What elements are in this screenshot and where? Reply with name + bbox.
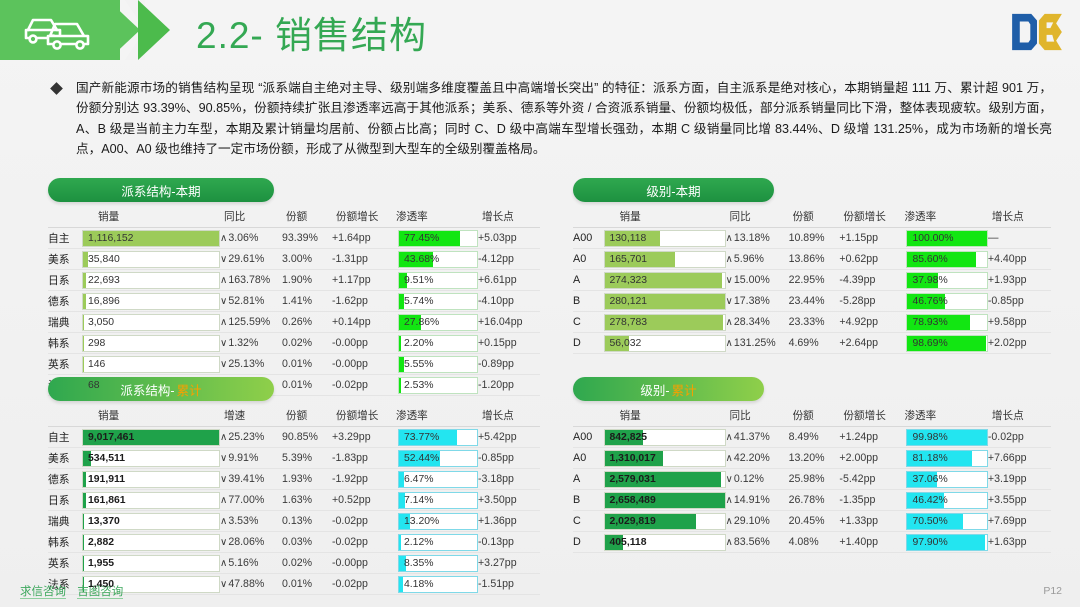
share-growth-cell: -0.02pp <box>332 511 392 532</box>
penetration-cell: 70.50% <box>900 511 987 532</box>
share-growth-cell: -5.42pp <box>839 469 900 490</box>
sales-value: 191,911 <box>83 474 125 485</box>
penetration-value: 97.90% <box>907 537 947 548</box>
sales-value: 130,118 <box>605 233 647 244</box>
table-row: A274,32315.00%22.95%-4.39pp37.98%+1.93pp <box>573 270 1051 291</box>
row-label: A00 <box>573 228 604 249</box>
column-header: 同比 <box>726 406 789 427</box>
share-growth-cell: +1.40pp <box>839 532 900 553</box>
panel-title-main: 级别- <box>640 380 669 399</box>
sales-bar: 130,118 <box>604 230 726 247</box>
yoy-cell: 39.41% <box>220 469 282 490</box>
column-header: 同比 <box>220 207 282 228</box>
sales-cell: 2,658,489 <box>604 490 726 511</box>
share-value: 20.45% <box>789 515 825 527</box>
sales-value: 1,310,017 <box>605 453 656 464</box>
row-label: 瑞典 <box>48 312 82 333</box>
growth-point-value: +7.66pp <box>988 452 1027 464</box>
yoy-value: 1.32% <box>220 337 258 349</box>
share-value: 13.20% <box>789 452 825 464</box>
growth-point-cell: +5.03pp <box>478 228 540 249</box>
penetration-value: 5.55% <box>399 359 433 370</box>
sales-cell: 405,118 <box>604 532 726 553</box>
share-value: 26.78% <box>789 494 825 506</box>
share-value: 1.93% <box>282 473 312 485</box>
penetration-value: 78.93% <box>907 317 947 328</box>
growth-point-value: +3.27pp <box>478 557 517 569</box>
yoy-value: 17.38% <box>726 295 770 307</box>
row-label: 韩系 <box>48 333 82 354</box>
column-header: 份额 <box>282 207 332 228</box>
sales-bar: 1,955 <box>82 555 220 572</box>
penetration-bar: 37.98% <box>906 272 987 289</box>
growth-point-value: +3.50pp <box>478 494 517 506</box>
panel-title-main: 派系结构- <box>120 380 174 399</box>
yoy-cell: 5.96% <box>726 249 789 270</box>
share-value: 93.39% <box>282 232 318 244</box>
yoy-cell: 0.12% <box>726 469 789 490</box>
yoy-value: 5.96% <box>726 253 764 265</box>
row-label: 英系 <box>48 553 82 574</box>
share-value: 0.02% <box>282 557 312 569</box>
column-header: 渗透率 <box>900 207 987 228</box>
yoy-value: 13.18% <box>726 232 770 244</box>
sales-cell: 13,370 <box>82 511 220 532</box>
sales-cell: 1,116,152 <box>82 228 220 249</box>
table-row: 瑞典13,3703.53%0.13%-0.02pp13.20%+1.36pp <box>48 511 540 532</box>
sales-cell: 130,118 <box>604 228 726 249</box>
share-value: 4.08% <box>789 536 819 548</box>
growth-point-value: +2.02pp <box>988 337 1027 349</box>
column-header: 同比 <box>726 207 789 228</box>
penetration-cell: 46.42% <box>900 490 987 511</box>
diamond-bullet-icon <box>50 82 63 95</box>
penetration-value: 7.14% <box>399 495 433 506</box>
sales-value: 16,896 <box>83 296 120 307</box>
data-table: 销量同比份额份额增长渗透率增长点自主1,116,1523.06%93.39%+1… <box>48 207 540 396</box>
penetration-cell: 4.18% <box>392 574 478 595</box>
summary-paragraph-block: 国产新能源市场的销售结构呈现 “派系端自主绝对主导、级别端多维度覆盖且中高端增长… <box>52 78 1052 160</box>
penetration-cell: 37.98% <box>900 270 987 291</box>
share-growth-cell: +2.00pp <box>839 448 900 469</box>
column-header: 销量 <box>604 207 726 228</box>
row-label: C <box>573 312 604 333</box>
sales-bar: 298 <box>82 335 220 352</box>
panel-title-pill: 派系结构-本期 <box>48 178 274 202</box>
share-cell: 5.39% <box>282 448 332 469</box>
share-growth-cell: +0.62pp <box>839 249 900 270</box>
sales-cell: 146 <box>82 354 220 375</box>
share-growth-cell: -0.00pp <box>332 333 392 354</box>
sales-value: 22,693 <box>83 275 120 286</box>
sales-value: 56,032 <box>605 338 642 349</box>
sales-cell: 22,693 <box>82 270 220 291</box>
column-header: 增速 <box>220 406 282 427</box>
share-cell: 10.89% <box>789 228 840 249</box>
penetration-cell: 43.68% <box>392 249 478 270</box>
yoy-value: 47.88% <box>220 578 264 590</box>
column-header: 销量 <box>82 406 220 427</box>
share-value: 23.44% <box>789 295 825 307</box>
sales-cell: 35,840 <box>82 249 220 270</box>
growth-point-value: +9.58pp <box>988 316 1027 328</box>
column-header-spacer <box>573 207 604 228</box>
penetration-bar: 8.35% <box>398 555 478 572</box>
penetration-bar: 13.20% <box>398 513 478 530</box>
penetration-bar: 85.60% <box>906 251 987 268</box>
sales-cell: 161,861 <box>82 490 220 511</box>
sales-value: 2,658,489 <box>605 495 656 506</box>
footer-links: 求信咨询 吉图咨询 <box>20 583 131 599</box>
sales-value: 13,370 <box>83 516 120 527</box>
penetration-cell: 52.44% <box>392 448 478 469</box>
share-growth-value: -0.02pp <box>332 515 368 527</box>
yoy-value: 83.56% <box>726 536 770 548</box>
growth-point-cell: -0.13pp <box>478 532 540 553</box>
penetration-bar: 43.68% <box>398 251 478 268</box>
share-cell: 23.44% <box>789 291 840 312</box>
share-cell: 0.03% <box>282 532 332 553</box>
growth-point-cell: -0.02pp <box>988 427 1051 448</box>
share-cell: 0.26% <box>282 312 332 333</box>
sales-value: 280,121 <box>605 296 648 307</box>
share-cell: 8.49% <box>789 427 840 448</box>
penetration-cell: 8.35% <box>392 553 478 574</box>
share-growth-value: +3.29pp <box>332 431 371 443</box>
penetration-bar: 5.74% <box>398 293 478 310</box>
growth-point-value: +5.03pp <box>478 232 517 244</box>
page-number: P12 <box>1043 585 1062 597</box>
yoy-value: 3.06% <box>220 232 258 244</box>
penetration-bar: 46.76% <box>906 293 987 310</box>
sales-bar: 9,017,461 <box>82 429 220 446</box>
growth-point-cell: -4.12pp <box>478 249 540 270</box>
penetration-value: 46.76% <box>907 296 947 307</box>
row-label: D <box>573 333 604 354</box>
share-growth-value: +1.17pp <box>332 274 371 286</box>
growth-point-value: -0.85pp <box>478 452 514 464</box>
share-growth-cell: +1.15pp <box>839 228 900 249</box>
sales-cell: 191,911 <box>82 469 220 490</box>
penetration-cell: 81.18% <box>900 448 987 469</box>
growth-point-cell: +9.58pp <box>988 312 1051 333</box>
sales-value: 161,861 <box>83 495 126 506</box>
table-row: 日系22,693163.78%1.90%+1.17pp9.51%+6.61pp <box>48 270 540 291</box>
row-label: 日系 <box>48 270 82 291</box>
yoy-cell: 9.91% <box>220 448 282 469</box>
share-value: 0.01% <box>282 578 312 590</box>
share-value: 1.41% <box>282 295 312 307</box>
column-header: 增长点 <box>988 406 1051 427</box>
penetration-bar: 27.86% <box>398 314 478 331</box>
penetration-value: 6.47% <box>399 474 433 485</box>
yoy-value: 77.00% <box>220 494 264 506</box>
penetration-value: 98.69% <box>907 338 947 349</box>
slide-root: 2.2- 销售结构 国产新能源市场的销售结构呈现 “派系端自主绝对主导、级别端多… <box>0 0 1080 607</box>
growth-point-cell: +3.55pp <box>988 490 1051 511</box>
sales-bar: 56,032 <box>604 335 726 352</box>
growth-point-value: +16.04pp <box>478 316 522 328</box>
growth-point-value: -0.85pp <box>988 295 1024 307</box>
sales-cell: 278,783 <box>604 312 726 333</box>
yoy-cell: 15.00% <box>726 270 789 291</box>
sales-bar: 13,370 <box>82 513 220 530</box>
penetration-bar: 6.47% <box>398 471 478 488</box>
share-growth-value: +1.24pp <box>839 431 878 443</box>
penetration-cell: 9.51% <box>392 270 478 291</box>
sales-bar: 2,658,489 <box>604 492 726 509</box>
yoy-value: 41.37% <box>726 431 770 443</box>
sales-cell: 298 <box>82 333 220 354</box>
penetration-value: 37.98% <box>907 275 947 286</box>
penetration-value: 70.50% <box>907 516 947 527</box>
penetration-cell: 5.55% <box>392 354 478 375</box>
share-growth-cell: +1.64pp <box>332 228 392 249</box>
growth-point-value: +1.36pp <box>478 515 517 527</box>
share-value: 5.39% <box>282 452 312 464</box>
sales-bar: 534,511 <box>82 450 220 467</box>
share-value: 10.89% <box>789 232 825 244</box>
column-header: 份额增长 <box>839 406 900 427</box>
data-table: 销量同比份额份额增长渗透率增长点A00842,82541.37%8.49%+1.… <box>573 406 1051 553</box>
share-cell: 0.01% <box>282 574 332 595</box>
row-label: 韩系 <box>48 532 82 553</box>
yoy-cell: 25.23% <box>220 427 282 448</box>
growth-point-cell: — <box>988 228 1051 249</box>
yoy-cell: 5.16% <box>220 553 282 574</box>
row-label: B <box>573 490 604 511</box>
row-label: A00 <box>573 427 604 448</box>
yoy-value: 125.59% <box>220 316 270 328</box>
share-growth-value: -1.62pp <box>332 295 368 307</box>
share-value: 0.02% <box>282 337 312 349</box>
share-cell: 13.20% <box>789 448 840 469</box>
share-growth-value: +0.62pp <box>839 253 878 265</box>
share-value: 1.63% <box>282 494 312 506</box>
yoy-value: 25.13% <box>220 358 264 370</box>
growth-point-cell: +2.02pp <box>988 333 1051 354</box>
table-row: 美系534,5119.91%5.39%-1.83pp52.44%-0.85pp <box>48 448 540 469</box>
sales-cell: 56,032 <box>604 333 726 354</box>
table-row: A0165,7015.96%13.86%+0.62pp85.60%+4.40pp <box>573 249 1051 270</box>
penetration-cell: 13.20% <box>392 511 478 532</box>
penetration-cell: 27.86% <box>392 312 478 333</box>
share-growth-value: -1.35pp <box>839 494 875 506</box>
penetration-bar: 99.98% <box>906 429 987 446</box>
sales-cell: 2,029,819 <box>604 511 726 532</box>
share-growth-value: +0.14pp <box>332 316 371 328</box>
growth-point-cell: +1.93pp <box>988 270 1051 291</box>
share-growth-value: -1.83pp <box>332 452 368 464</box>
sales-bar: 161,861 <box>82 492 220 509</box>
share-growth-cell: +2.64pp <box>839 333 900 354</box>
yoy-cell: 28.06% <box>220 532 282 553</box>
penetration-bar: 81.18% <box>906 450 987 467</box>
row-label: 德系 <box>48 469 82 490</box>
sales-cell: 842,825 <box>604 427 726 448</box>
share-growth-cell: -1.83pp <box>332 448 392 469</box>
share-value: 90.85% <box>282 431 318 443</box>
yoy-cell: 125.59% <box>220 312 282 333</box>
table-row: 英系1,9555.16%0.02%-0.00pp8.35%+3.27pp <box>48 553 540 574</box>
row-label: D <box>573 532 604 553</box>
sales-cell: 280,121 <box>604 291 726 312</box>
panel-title-pill: 级别-本期 <box>573 178 774 202</box>
growth-point-cell: +3.50pp <box>478 490 540 511</box>
share-growth-value: +4.92pp <box>839 316 878 328</box>
sales-bar: 2,579,031 <box>604 471 726 488</box>
penetration-cell: 5.74% <box>392 291 478 312</box>
panel-level-cumulative: 级别-累计销量同比份额份额增长渗透率增长点A00842,82541.37%8.4… <box>573 377 1051 553</box>
table-row: B2,658,48914.91%26.78%-1.35pp46.42%+3.55… <box>573 490 1051 511</box>
slide-header: 2.2- 销售结构 <box>0 0 1080 64</box>
sales-bar: 35,840 <box>82 251 220 268</box>
penetration-value: 81.18% <box>907 453 947 464</box>
penetration-cell: 98.69% <box>900 333 987 354</box>
panel-title-accent: 累计 <box>177 380 202 399</box>
growth-point-cell: +6.61pp <box>478 270 540 291</box>
yoy-cell: 28.34% <box>726 312 789 333</box>
sales-cell: 274,323 <box>604 270 726 291</box>
share-growth-cell: -0.00pp <box>332 553 392 574</box>
yoy-value: 42.20% <box>726 452 770 464</box>
footer-link-1[interactable]: 求信咨询 <box>20 586 66 599</box>
share-growth-value: -5.28pp <box>839 295 875 307</box>
sales-cell: 9,017,461 <box>82 427 220 448</box>
panel-faction-current: 派系结构-本期销量同比份额份额增长渗透率增长点自主1,116,1523.06%9… <box>48 178 518 396</box>
share-growth-value: -1.31pp <box>332 253 368 265</box>
share-cell: 0.01% <box>282 354 332 375</box>
share-cell: 1.93% <box>282 469 332 490</box>
penetration-cell: 100.00% <box>900 228 987 249</box>
penetration-bar: 73.77% <box>398 429 478 446</box>
table-row: 自主1,116,1523.06%93.39%+1.64pp77.45%+5.03… <box>48 228 540 249</box>
share-growth-value: +1.64pp <box>332 232 371 244</box>
share-growth-cell: +0.14pp <box>332 312 392 333</box>
penetration-cell: 85.60% <box>900 249 987 270</box>
sales-bar: 274,323 <box>604 272 726 289</box>
growth-point-value: +1.93pp <box>988 274 1027 286</box>
growth-point-value: +3.19pp <box>988 473 1027 485</box>
share-growth-value: -1.92pp <box>332 473 368 485</box>
row-label: 英系 <box>48 354 82 375</box>
penetration-value: 43.68% <box>399 254 439 265</box>
table-row: A2,579,0310.12%25.98%-5.42pp37.06%+3.19p… <box>573 469 1051 490</box>
sales-value: 2,029,819 <box>605 516 656 527</box>
sales-bar: 1,310,017 <box>604 450 726 467</box>
column-header: 渗透率 <box>392 207 478 228</box>
growth-point-cell: -0.85pp <box>478 448 540 469</box>
penetration-value: 100.00% <box>907 233 953 244</box>
penetration-bar: 2.20% <box>398 335 478 352</box>
sales-value: 3,050 <box>83 317 114 328</box>
share-growth-cell: -1.35pp <box>839 490 900 511</box>
column-header-spacer <box>573 406 604 427</box>
sales-bar: 405,118 <box>604 534 726 551</box>
db-logo-icon <box>1008 10 1066 54</box>
sales-cell: 534,511 <box>82 448 220 469</box>
share-value: 13.86% <box>789 253 825 265</box>
penetration-bar: 97.90% <box>906 534 987 551</box>
growth-point-cell: +16.04pp <box>478 312 540 333</box>
yoy-value: 29.61% <box>220 253 264 265</box>
yoy-cell: 47.88% <box>220 574 282 595</box>
sales-value: 278,783 <box>605 317 648 328</box>
yoy-value: 5.16% <box>220 557 258 569</box>
share-growth-cell: -0.02pp <box>332 574 392 595</box>
share-growth-value: +1.40pp <box>839 536 878 548</box>
data-table: 销量同比份额份额增长渗透率增长点A00130,11813.18%10.89%+1… <box>573 207 1051 354</box>
table-row: D56,032131.25%4.69%+2.64pp98.69%+2.02pp <box>573 333 1051 354</box>
sales-value: 842,825 <box>605 432 648 443</box>
growth-point-value: -4.12pp <box>478 253 514 265</box>
share-cell: 93.39% <box>282 228 332 249</box>
sales-value: 1,116,152 <box>83 233 133 244</box>
sales-bar: 16,896 <box>82 293 220 310</box>
penetration-cell: 2.12% <box>392 532 478 553</box>
penetration-value: 99.98% <box>907 432 947 443</box>
growth-point-value: -3.18pp <box>478 473 514 485</box>
sales-bar: 3,050 <box>82 314 220 331</box>
sales-value: 146 <box>83 359 105 370</box>
column-header: 渗透率 <box>900 406 987 427</box>
growth-point-cell: +4.40pp <box>988 249 1051 270</box>
growth-point-value: -4.10pp <box>478 295 514 307</box>
penetration-bar: 70.50% <box>906 513 987 530</box>
sales-cell: 2,882 <box>82 532 220 553</box>
row-label: 美系 <box>48 448 82 469</box>
share-cell: 1.90% <box>282 270 332 291</box>
penetration-cell: 2.20% <box>392 333 478 354</box>
sales-bar: 280,121 <box>604 293 726 310</box>
table-row: C278,78328.34%23.33%+4.92pp78.93%+9.58pp <box>573 312 1051 333</box>
share-growth-value: +1.33pp <box>839 515 878 527</box>
share-value: 0.03% <box>282 536 312 548</box>
table-row: D405,11883.56%4.08%+1.40pp97.90%+1.63pp <box>573 532 1051 553</box>
penetration-cell: 97.90% <box>900 532 987 553</box>
growth-point-cell: -4.10pp <box>478 291 540 312</box>
yoy-value: 163.78% <box>220 274 270 286</box>
penetration-value: 73.77% <box>399 432 439 443</box>
table-row: 英系14625.13%0.01%-0.00pp5.55%-0.89pp <box>48 354 540 375</box>
panel-level-current: 级别-本期销量同比份额份额增长渗透率增长点A00130,11813.18%10.… <box>573 178 1051 354</box>
table-row: 韩系2,88228.06%0.03%-0.02pp2.12%-0.13pp <box>48 532 540 553</box>
penetration-bar: 77.45% <box>398 230 478 247</box>
penetration-cell: 46.76% <box>900 291 987 312</box>
share-cell: 20.45% <box>789 511 840 532</box>
penetration-value: 52.44% <box>399 453 439 464</box>
panel-title-main: 派系结构-本期 <box>121 181 200 200</box>
share-growth-cell: -1.31pp <box>332 249 392 270</box>
growth-point-value: +3.55pp <box>988 494 1027 506</box>
growth-point-cell: +1.63pp <box>988 532 1051 553</box>
row-label: 瑞典 <box>48 511 82 532</box>
share-growth-value: +2.00pp <box>839 452 878 464</box>
penetration-value: 5.74% <box>399 296 433 307</box>
sales-cell: 1,310,017 <box>604 448 726 469</box>
penetration-value: 13.20% <box>399 516 439 527</box>
car-icon <box>24 12 98 50</box>
sales-bar: 1,116,152 <box>82 230 220 247</box>
sales-bar: 278,783 <box>604 314 726 331</box>
share-cell: 0.13% <box>282 511 332 532</box>
share-cell: 1.41% <box>282 291 332 312</box>
penetration-bar: 5.55% <box>398 356 478 373</box>
share-growth-value: -0.00pp <box>332 337 368 349</box>
share-growth-value: +2.64pp <box>839 337 878 349</box>
growth-point-value: +1.63pp <box>988 536 1027 548</box>
growth-point-value: -0.02pp <box>988 431 1024 443</box>
